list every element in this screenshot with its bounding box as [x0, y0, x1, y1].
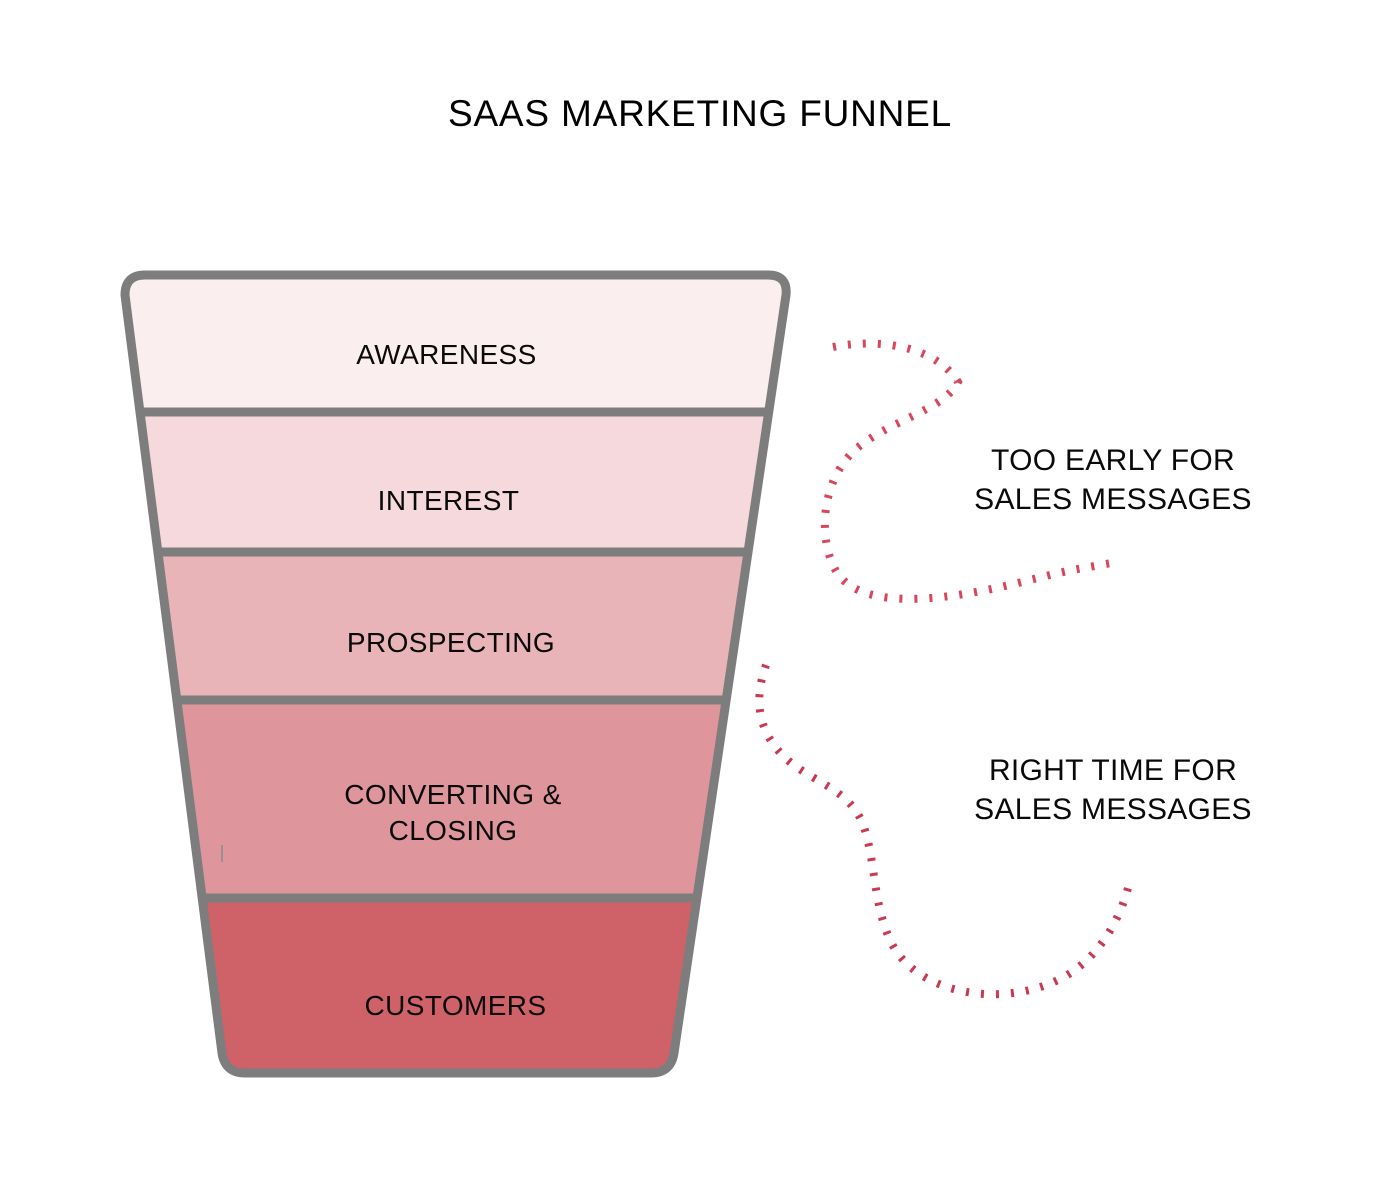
funnel-band-converting-closing	[118, 700, 794, 898]
funnel-band-prospecting	[112, 552, 800, 700]
funnel-diagram-canvas: SAAS MARKETING FUNNEL	[0, 0, 1400, 1200]
funnel-band-interest	[106, 412, 806, 552]
annotation-right-time-for-sales-messages: RIGHT TIME FOR SALES MESSAGES	[880, 751, 1346, 829]
brace-right-time	[759, 665, 1130, 994]
funnel-graphic	[0, 0, 1400, 1200]
funnel-band-awareness	[100, 270, 812, 412]
annotation-too-early-for-sales-messages: TOO EARLY FOR SALES MESSAGES	[880, 441, 1346, 519]
